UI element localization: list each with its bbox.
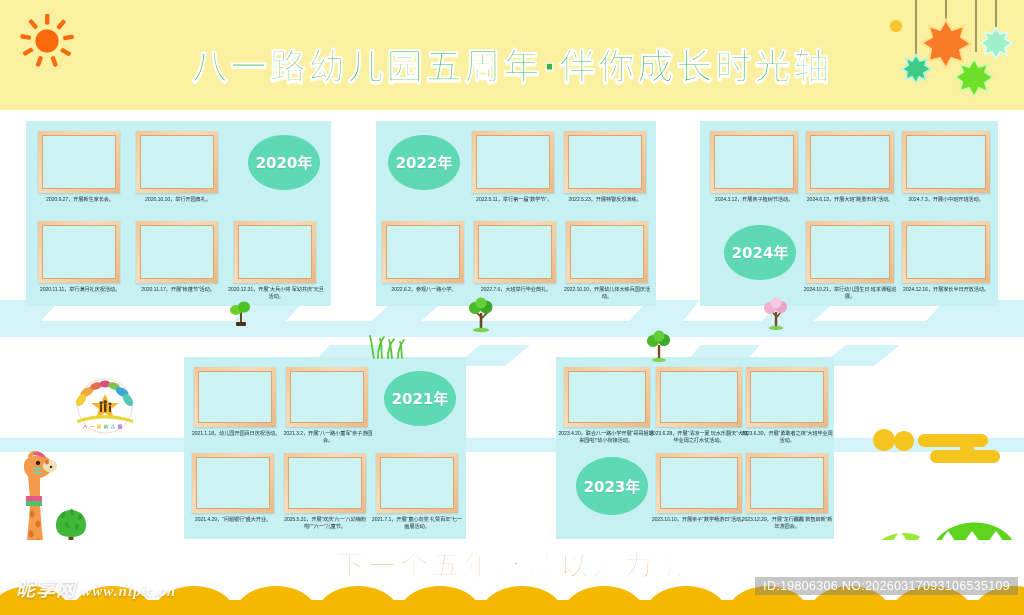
photo-frame[interactable] [192,453,274,513]
section-panel-2021: 2021.1.18，幼儿园开园百日庆祝活动。 2021.3.2，开展“八一路小童… [184,357,466,539]
photo-frame[interactable] [902,221,990,283]
photo-caption: 2025.5.31，开展“欢庆‘六一’八幼嗨粉啦!”“六一”儿童节。 [278,517,372,531]
hanging-dot-yellow [890,20,902,32]
photo-frame[interactable] [806,221,894,283]
grass-tuft-icon [366,332,410,360]
svg-text:园: 园 [118,423,122,430]
photo-caption: 2023.4.20，联合八一路小学开展“哥哥姐姐来园啦!”幼小衔接活动。 [558,431,654,445]
photo-caption: 2024.10.21，举行幼儿园生日 班本课程巡展。 [800,287,900,301]
page-title: 八一路幼儿园五周年·伴你成长时光轴 [0,38,1024,90]
photo-caption: 2021.3.2，开展“八一路小童军”亲子游园会。 [282,431,374,445]
photo-frame[interactable] [746,367,828,427]
sapling-icon [228,300,254,330]
photo-frame[interactable] [136,221,218,283]
kindergarten-logo: 八一 路幼 儿园 [55,378,155,434]
svg-text:儿: 儿 [110,423,116,430]
photo-caption: 2022.7.6，大班举行毕业典礼。 [470,287,562,294]
photo-caption: 2024.12.16，开展家长半日开放活动。 [896,287,996,294]
photo-caption: 2024.6.13，开展大班“跳蚤市场”活动。 [800,197,900,204]
photo-caption: 2023.6.28，开展“清凉一夏 玩水乐翻天”大班毕业周之打水仗活动。 [650,431,748,445]
photo-caption: 2020.12.31，开展“大兵小将 军幼共庆”元旦活动。 [228,287,324,301]
photo-caption: 2023.6.30，开展“勇敢者之夜”大班毕业周活动。 [740,431,834,445]
photo-caption: 2021.1.18，幼儿园开园百日庆祝活动。 [190,431,282,438]
photo-caption: 2022.10.10，开展幼儿体大练兵国庆活动。 [560,287,654,301]
photo-caption: 2021.4.29，“问题银行”盛大开业。 [186,517,280,524]
photo-frame[interactable] [234,221,316,283]
photo-caption: 2023.10.10，开展亲子“数学畅游日”活动。 [650,517,748,524]
photo-caption: 2020.10.10，举行开园典礼。 [132,197,224,204]
photo-frame[interactable] [286,367,368,427]
photo-frame[interactable] [38,131,120,193]
hanging-star-mint [981,28,1012,59]
section-panel-2024: 2024.3.12，开展亲子植树节活动。 2024.6.13，开展大班“跳蚤市场… [700,121,998,306]
photo-frame[interactable] [194,367,276,427]
photo-frame[interactable] [566,221,648,283]
year-badge-2024: 2024年 [724,225,796,280]
photo-frame[interactable] [746,453,828,513]
year-badge-2022: 2022年 [388,135,460,190]
header-band: 八一路幼儿园五周年·伴你成长时光轴 [0,0,1024,110]
photo-frame[interactable] [382,221,464,283]
photo-frame[interactable] [474,221,556,283]
photo-frame[interactable] [806,131,894,193]
year-badge-2021: 2021年 [384,371,456,426]
blossom-tree-icon [762,297,790,331]
photo-caption: 2023.12.29，开展“龙行龘龘 数智启新”新年游园会。 [740,517,834,531]
site-watermark: 昵享网 www.nipic.cn [16,575,176,602]
section-panel-2023: 2023.4.20，联合八一路小学开展“哥哥姐姐来园啦!”幼小衔接活动。 202… [556,357,834,539]
photo-frame[interactable] [902,131,990,193]
hanging-star-orange [922,20,971,68]
hanging-star-lime [955,59,993,97]
year-badge-2020: 2020年 [248,135,320,190]
section-panel-2020: 2020.9.27，开展新生家长会。 2020.10.10，举行开园典礼。 20… [26,121,331,306]
photo-frame[interactable] [376,453,458,513]
photo-frame[interactable] [38,221,120,283]
photo-caption: 2020.11.11，举行满月礼庆祝活动。 [32,287,128,294]
photo-frame[interactable] [564,367,650,427]
tree-icon [466,297,496,333]
svg-text:路: 路 [97,423,102,430]
hanging-decorations [884,0,1024,110]
section-panel-2022: 2022年 2022.5.11，举行第一届“数学节”。 2022.5.23，开展… [376,121,656,306]
photo-caption: 2022.5.23，开展特警反恐演练。 [558,197,652,204]
photo-caption: 2024.3.12，开展亲子植树节活动。 [704,197,804,204]
photo-frame[interactable] [136,131,218,193]
photo-caption: 2022.5.11，举行第一届“数学节”。 [468,197,560,204]
photo-caption: 2020.9.27，开展新生家长会。 [34,197,126,204]
photo-caption: 2024.7.3，开展小中班开班活动。 [896,197,996,204]
svg-text:幼: 幼 [104,423,108,430]
svg-text:八: 八 [82,424,88,429]
watermark-url: www.nipic.cn [81,584,176,600]
photo-frame[interactable] [656,367,742,427]
photo-caption: 2020.11.17，开展“帐蓬节”活动。 [130,287,226,294]
svg-text:一: 一 [90,424,95,429]
watermark-site-name: 昵享网 [16,580,76,601]
tree-icon [645,330,673,362]
photo-frame[interactable] [284,453,366,513]
image-id-label: ID:19806306 NO:20260317093106535109 [755,577,1018,595]
year-badge-2023: 2023年 [576,457,648,515]
poster-canvas: 八一路幼儿园五周年·伴你成长时光轴 [0,0,1024,615]
photo-frame[interactable] [472,131,554,193]
photo-frame[interactable] [564,131,646,193]
photo-caption: 2021.7.1，开展“童心向党 礼赞百年”七一画展活动。 [370,517,464,531]
photo-frame[interactable] [656,453,742,513]
cloud-icon [872,428,1002,470]
hanging-star-green [902,55,931,83]
photo-caption: 2022.6.2，参观八一路小学。 [378,287,470,294]
photo-frame[interactable] [710,131,798,193]
